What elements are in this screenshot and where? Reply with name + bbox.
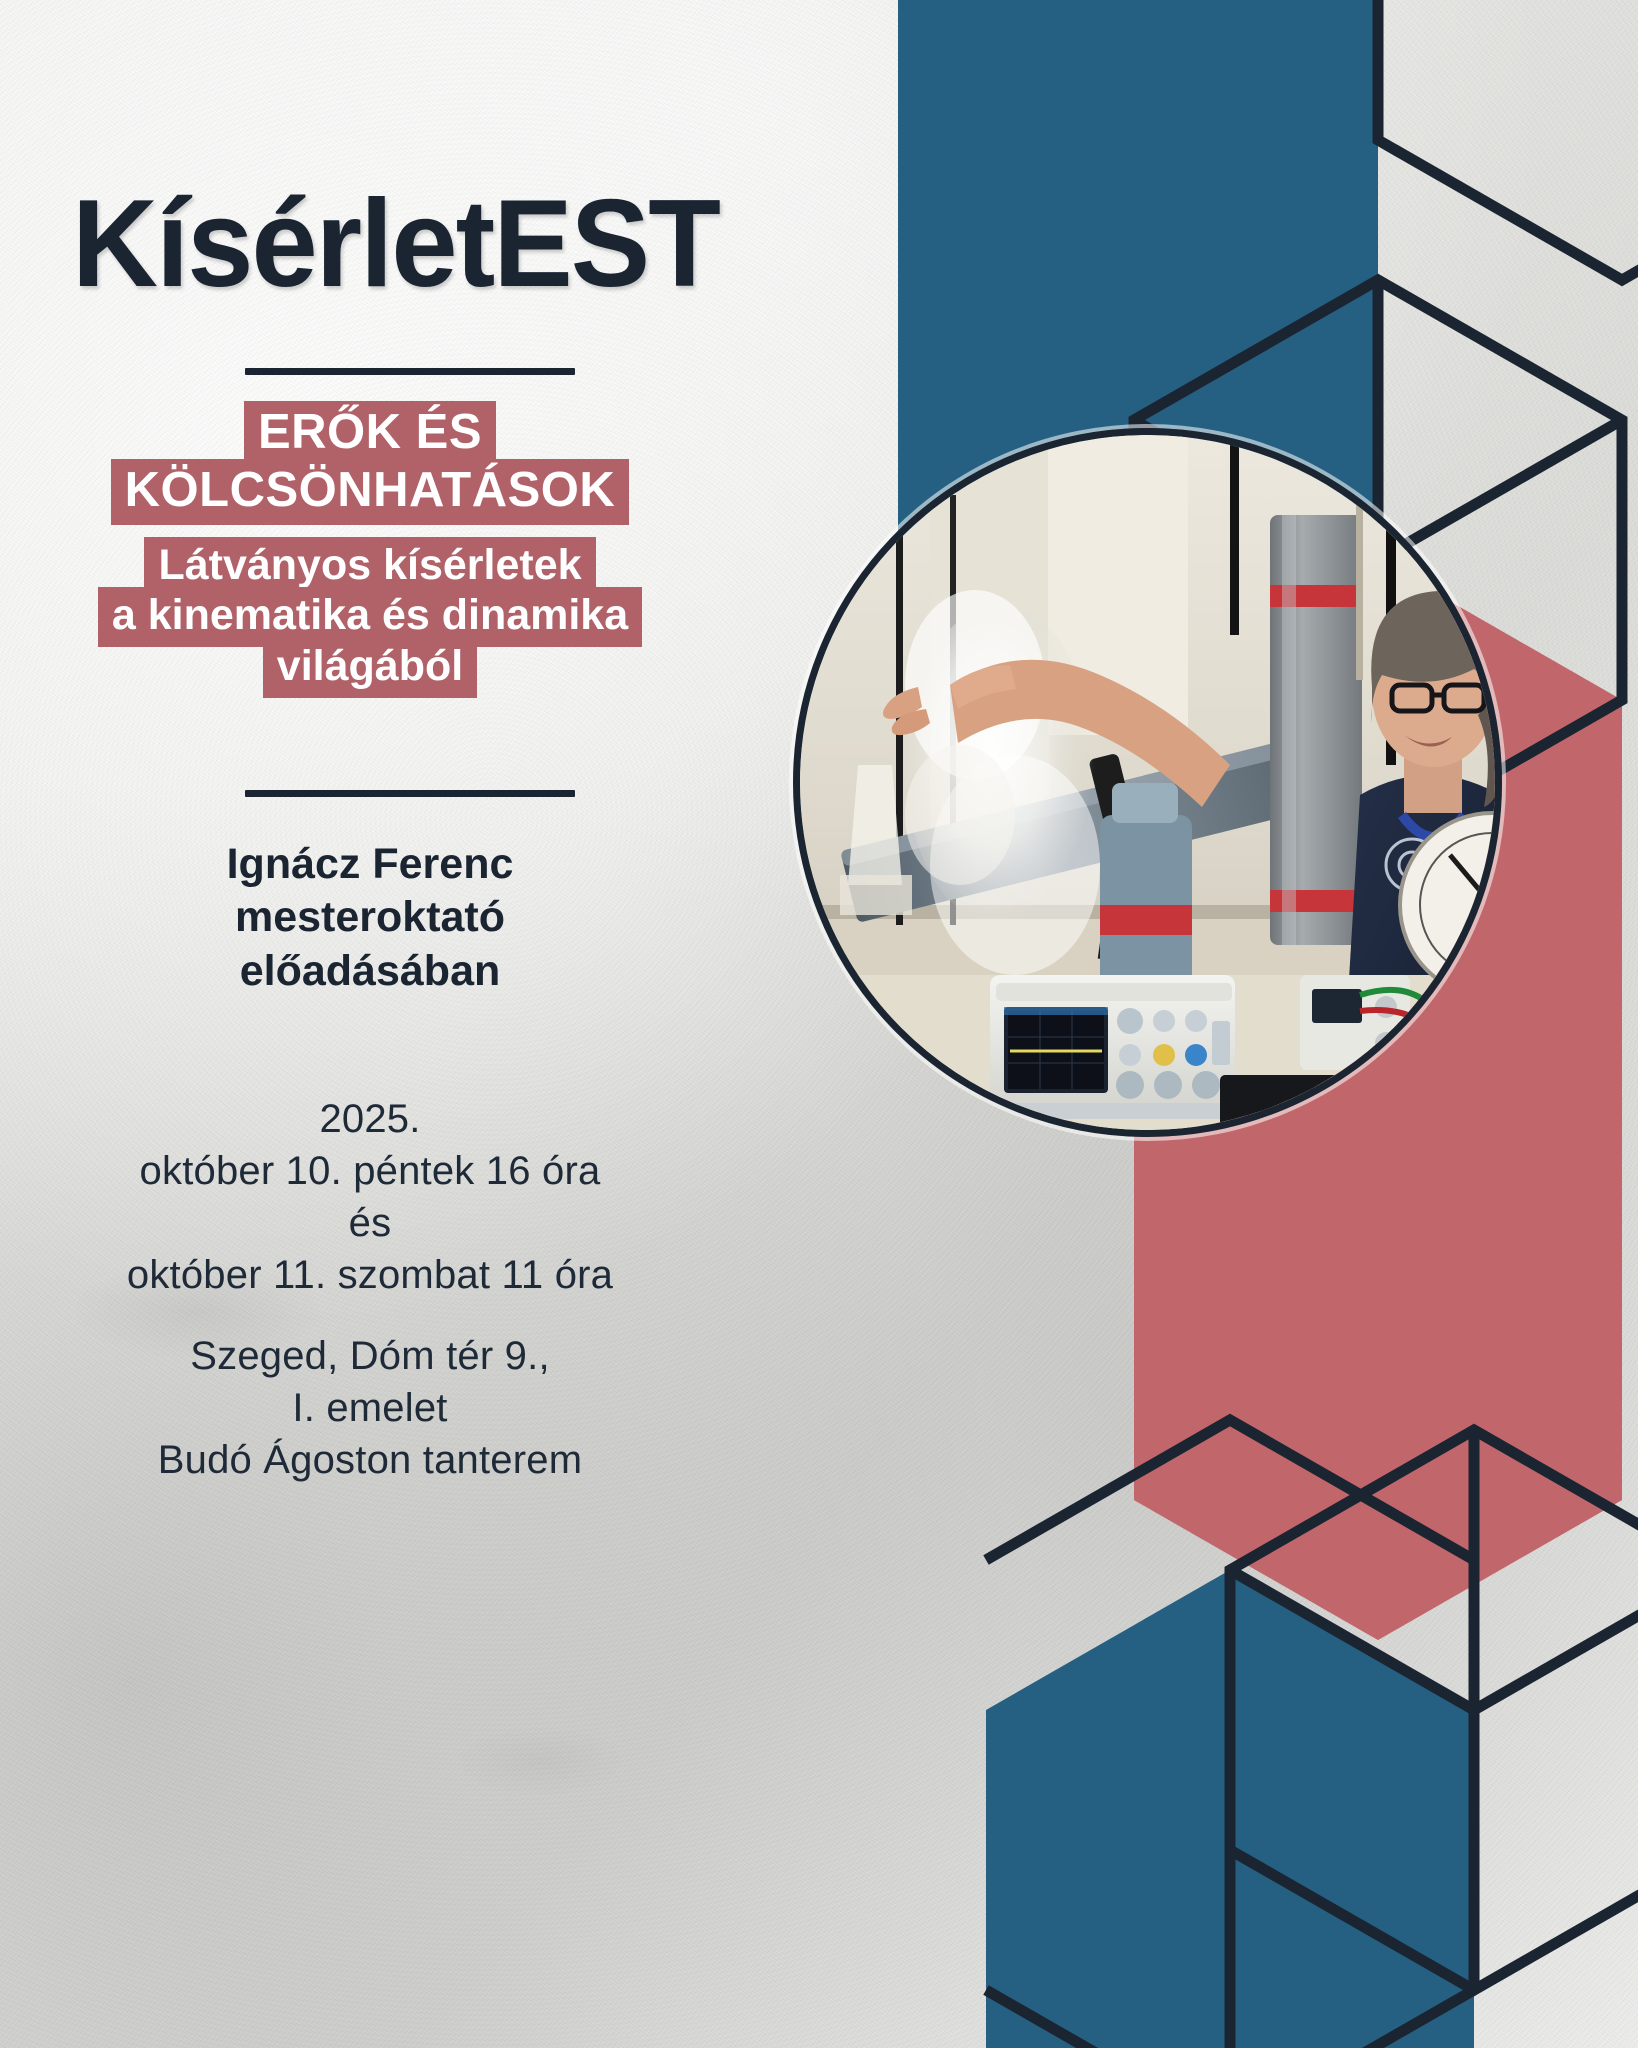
headline-line-1: ERŐK ÉS [0,404,740,462]
date-year: 2025. [0,1093,740,1145]
venue-address: Szeged, Dóm tér 9., [0,1330,740,1382]
date-occasion-2: október 11. szombat 11 óra [0,1249,740,1301]
presenter-role: mesteroktató [0,891,740,944]
event-photo [793,428,1502,1137]
venue-floor: I. emelet [0,1382,740,1434]
divider-top [245,368,575,375]
headline-line-4: a kinematika és dinamika [0,590,740,641]
presenter-name: Ignácz Ferenc [0,838,740,891]
event-photo-image [800,435,1495,1130]
headline-block: ERŐK ÉS KÖLCSÖNHATÁSOK Látványos kísérle… [0,404,740,692]
headline-line-2: KÖLCSÖNHATÁSOK [0,462,740,520]
divider-bottom [245,790,575,797]
headline-line-5: világából [0,641,740,692]
poster-canvas: KísérletEST ERŐK ÉS KÖLCSÖNHATÁSOK Látvá… [0,0,1638,2048]
presenter-suffix: előadásában [0,945,740,998]
poster-title: KísérletEST [72,182,719,306]
presenter-block: Ignácz Ferenc mesteroktató előadásában [0,838,740,998]
venue-block: Szeged, Dóm tér 9., I. emelet Budó Ágost… [0,1330,740,1486]
venue-room: Budó Ágoston tanterem [0,1434,740,1486]
date-occasion-1: október 10. péntek 16 óra [0,1145,740,1197]
date-block: 2025. október 10. péntek 16 óra és októb… [0,1093,740,1301]
date-conjunction: és [0,1197,740,1249]
headline-line-3: Látványos kísérletek [0,540,740,591]
